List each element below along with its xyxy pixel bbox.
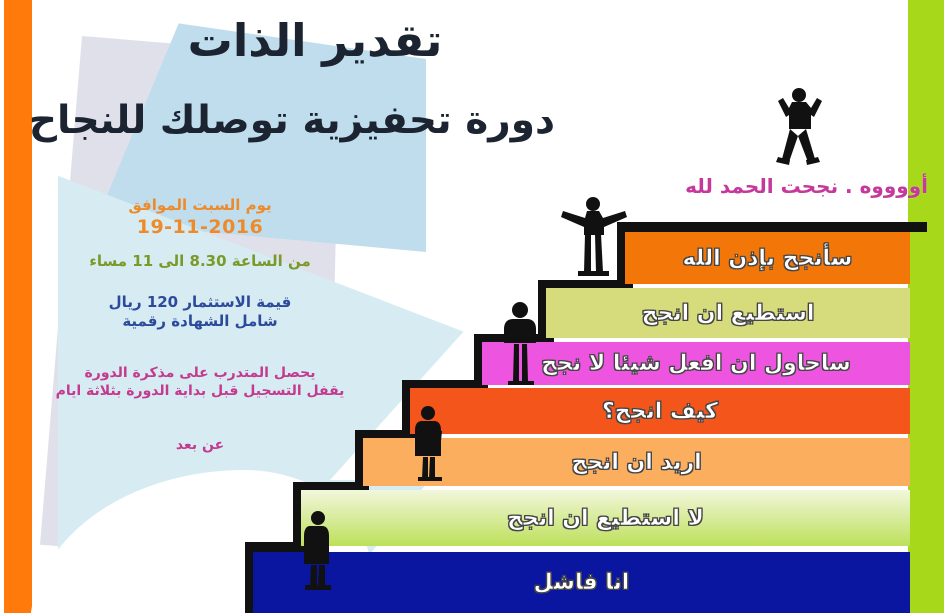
step-3-tread: ساحاول ان افعل شيئا لا نجح [482, 342, 910, 385]
step-1-label: سأنجح بإذن الله [683, 246, 853, 271]
step-6-tread: لا استطيع ان انجح [301, 490, 910, 546]
figure-standing [410, 404, 446, 482]
step-6-label: لا استطيع ان انجح [507, 506, 704, 531]
step-4-label: كيف انجح؟ [602, 399, 718, 424]
figure-dancing [768, 84, 830, 166]
staircase-graphic: سأنجح بإذن الله استطيع ان انجح ساحاول ان… [0, 0, 950, 613]
step-2-tread: استطيع ان انجح [546, 288, 910, 338]
step-3-label: ساحاول ان افعل شيئا لا نجح [541, 351, 851, 376]
step-4-tread: كيف انجح؟ [410, 388, 910, 434]
step-7-tread: انا فاشل [253, 552, 910, 613]
figure-hands-on-hips [498, 300, 542, 386]
step-2-label: استطيع ان انجح [642, 301, 815, 326]
step-1-tread: سأنجح بإذن الله [625, 232, 910, 284]
figure-head-down [296, 508, 336, 590]
step-7-label: انا فاشل [534, 570, 630, 595]
poster-canvas: تقدير الذات دورة تحفيزية توصلك للنجاح يو… [0, 0, 950, 613]
stair-shadow-1 [617, 222, 927, 232]
figure-celebrating-top [556, 192, 630, 284]
step-5-label: اريد ان انجح [571, 450, 701, 475]
